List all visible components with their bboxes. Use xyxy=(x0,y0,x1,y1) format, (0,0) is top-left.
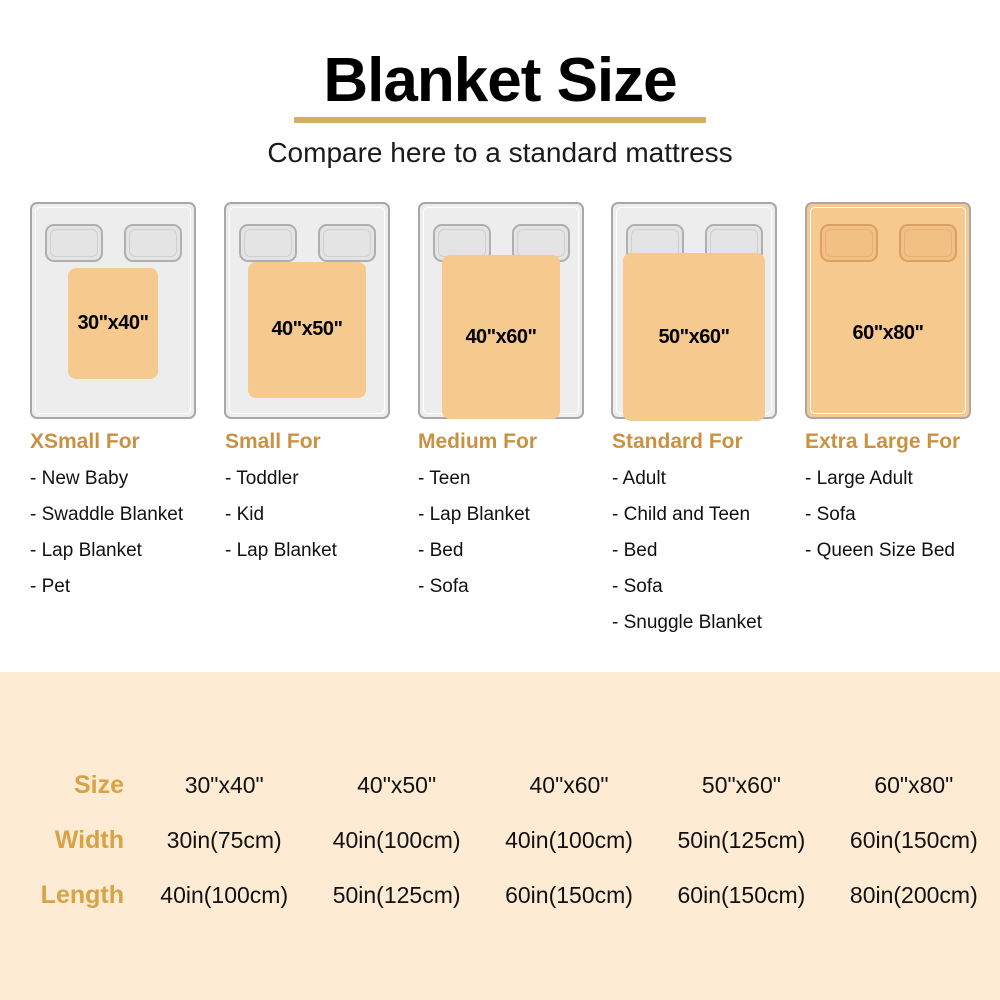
table-cell: 40in(100cm) xyxy=(138,882,310,909)
category-heading: Standard For xyxy=(612,430,812,454)
table-cell: 50in(125cm) xyxy=(310,882,482,909)
list-item: - Queen Size Bed xyxy=(805,541,1000,560)
pillow-icon xyxy=(124,224,182,262)
pillow-icon xyxy=(45,224,103,262)
table-row: Size30"x40"40"x50"40"x60"50"x60"60"x80" xyxy=(0,758,1000,813)
table-cell: 60in(150cm) xyxy=(828,827,1000,854)
table-cell: 60in(150cm) xyxy=(655,882,827,909)
blanket-size-label: 40"x60" xyxy=(465,326,536,349)
list-item: - Bed xyxy=(612,541,812,560)
table-cell: 60"x80" xyxy=(828,772,1000,799)
category-heading: Extra Large For xyxy=(805,430,1000,454)
category-column: Extra Large For- Large Adult- Sofa- Quee… xyxy=(805,430,1000,577)
table-cell: 30"x40" xyxy=(138,772,310,799)
bed-diagram: 60"x80" xyxy=(805,202,971,419)
category-column: Medium For- Teen- Lap Blanket- Bed- Sofa xyxy=(418,430,618,613)
title-underline xyxy=(294,117,706,123)
table-cell: 40"x50" xyxy=(310,772,482,799)
table-cell: 50in(125cm) xyxy=(655,827,827,854)
blanket-size-label: 40"x50" xyxy=(271,318,342,341)
pillow-icon xyxy=(899,224,957,262)
list-item: - Large Adult xyxy=(805,469,1000,488)
category-heading: Small For xyxy=(225,430,425,454)
list-item: - Pet xyxy=(30,577,230,596)
list-item: - Adult xyxy=(612,469,812,488)
category-column: Small For- Toddler- Kid- Lap Blanket xyxy=(225,430,425,577)
table-cell: 40"x60" xyxy=(483,772,655,799)
list-item: - Sofa xyxy=(612,577,812,596)
list-item: - Lap Blanket xyxy=(30,541,230,560)
page-subtitle: Compare here to a standard mattress xyxy=(0,137,1000,169)
table-row-label: Length xyxy=(0,881,138,910)
bed-diagram: 40"x50" xyxy=(224,202,390,419)
spec-table: Size30"x40"40"x50"40"x60"50"x60"60"x80"W… xyxy=(0,758,1000,923)
bed-diagram: 30"x40" xyxy=(30,202,196,419)
list-item: - Teen xyxy=(418,469,618,488)
list-item: - Kid xyxy=(225,505,425,524)
table-cell: 30in(75cm) xyxy=(138,827,310,854)
list-item: - New Baby xyxy=(30,469,230,488)
list-item: - Sofa xyxy=(418,577,618,596)
bed-diagram: 50"x60" xyxy=(611,202,777,419)
bed-diagram-row: 30"x40"40"x50"40"x60"50"x60"60"x80" xyxy=(0,202,1000,422)
pillow-icon xyxy=(318,224,376,262)
list-item: - Child and Teen xyxy=(612,505,812,524)
category-heading: Medium For xyxy=(418,430,618,454)
list-item: - Toddler xyxy=(225,469,425,488)
table-cell: 40in(100cm) xyxy=(310,827,482,854)
table-cell: 50"x60" xyxy=(655,772,827,799)
category-column: Standard For- Adult- Child and Teen- Bed… xyxy=(612,430,812,649)
list-item: - Snuggle Blanket xyxy=(612,613,812,632)
blanket-shape: 40"x60" xyxy=(442,255,560,419)
list-item: - Lap Blanket xyxy=(225,541,425,560)
list-item: - Sofa xyxy=(805,505,1000,524)
spec-table-band: Size30"x40"40"x50"40"x60"50"x60"60"x80"W… xyxy=(0,672,1000,1000)
infographic-page: Blanket Size Compare here to a standard … xyxy=(0,0,1000,1000)
table-cell: 80in(200cm) xyxy=(828,882,1000,909)
table-row: Width30in(75cm)40in(100cm)40in(100cm)50i… xyxy=(0,813,1000,868)
blanket-shape: 40"x50" xyxy=(248,262,366,398)
blanket-size-label: 60"x80" xyxy=(807,322,969,345)
blanket-shape: 30"x40" xyxy=(68,268,159,379)
pillow-icon xyxy=(820,224,878,262)
bed-diagram: 40"x60" xyxy=(418,202,584,419)
table-row-label: Width xyxy=(0,826,138,855)
category-column: XSmall For- New Baby- Swaddle Blanket- L… xyxy=(30,430,230,613)
blanket-size-label: 30"x40" xyxy=(77,312,148,335)
list-item: - Bed xyxy=(418,541,618,560)
page-title: Blanket Size xyxy=(0,48,1000,113)
table-row-label: Size xyxy=(0,771,138,800)
table-row: Length40in(100cm)50in(125cm)60in(150cm)6… xyxy=(0,868,1000,923)
blanket-size-label: 50"x60" xyxy=(658,326,729,349)
header: Blanket Size Compare here to a standard … xyxy=(0,0,1000,169)
table-cell: 60in(150cm) xyxy=(483,882,655,909)
table-cell: 40in(100cm) xyxy=(483,827,655,854)
blanket-shape: 50"x60" xyxy=(623,253,766,421)
category-heading: XSmall For xyxy=(30,430,230,454)
list-item: - Swaddle Blanket xyxy=(30,505,230,524)
pillow-icon xyxy=(239,224,297,262)
list-item: - Lap Blanket xyxy=(418,505,618,524)
